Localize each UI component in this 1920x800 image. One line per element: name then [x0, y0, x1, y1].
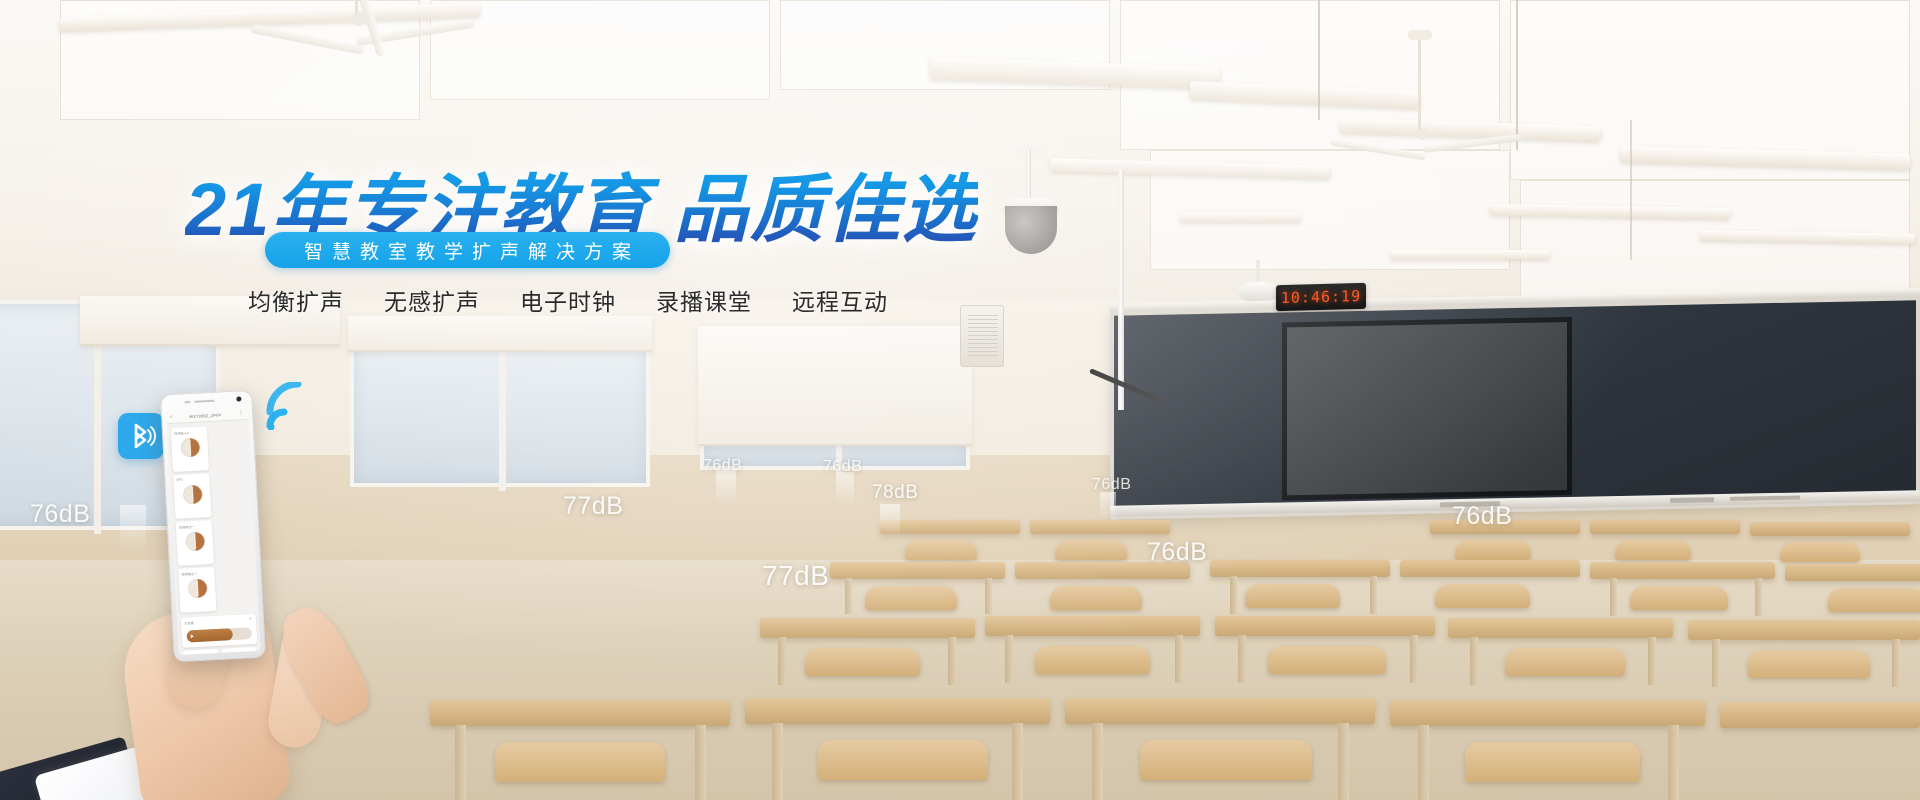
control-card-grid-lower [178, 647, 260, 655]
desk-leg [772, 723, 783, 800]
db-label: 76dB [1452, 502, 1512, 531]
desk [1785, 564, 1920, 581]
desk [1030, 520, 1170, 534]
control-card[interactable]: 视频输出二 [178, 567, 216, 613]
sound-beam [836, 472, 854, 506]
desk-leg [1470, 637, 1478, 685]
chair [1465, 742, 1640, 782]
chair [1268, 646, 1386, 674]
control-card-grid: 视频输入A MP3 视频输出一 视频输出二 [167, 420, 259, 617]
speaker-rod [1026, 150, 1031, 202]
control-card-label: 视频输出二 [181, 570, 211, 577]
chair [1828, 588, 1920, 612]
db-label: 77dB [563, 492, 623, 521]
electronic-clock-display: 10:46:19 [1276, 283, 1366, 311]
clock-time: 10:46:19 [1281, 287, 1361, 307]
board-control-strip [1730, 496, 1800, 501]
desk-leg [1370, 576, 1377, 614]
chair [1505, 648, 1625, 676]
db-label: 76dB [1092, 476, 1131, 494]
front-camera [236, 396, 241, 401]
desk-leg [1892, 639, 1900, 687]
desk [880, 520, 1020, 534]
feature-item: 远程互动 [792, 283, 888, 317]
ceiling-panel [430, 0, 770, 100]
desk-leg [695, 725, 706, 800]
desk [985, 616, 1200, 636]
desk-leg [1410, 635, 1418, 683]
control-card-label: 视频输出一 [179, 523, 209, 530]
chair [1780, 542, 1860, 562]
microphone-pole [1118, 170, 1124, 410]
sound-beam [1100, 492, 1116, 522]
wall-speaker [960, 305, 1004, 367]
feature-item: 无感扩声 [384, 283, 480, 317]
desk-leg [1668, 725, 1679, 800]
feature-item: 均衡扩声 [248, 283, 344, 317]
rotary-knob[interactable] [180, 438, 200, 458]
desk [1750, 522, 1910, 536]
desk-leg [1175, 635, 1183, 683]
chair [1050, 586, 1142, 610]
classroom-promo-banner: 10:46:19 76dB 76dB 77dB 76dB 78dB 76dB 7… [0, 0, 1920, 800]
desk-leg [455, 725, 466, 800]
subtitle-pill: 智慧教室教学扩声解决方案 [265, 232, 670, 268]
chair [1140, 740, 1312, 780]
hanging-wire [1318, 0, 1320, 120]
blackboard-surface [1114, 300, 1916, 507]
db-label: 76dB [1147, 538, 1207, 567]
bluetooth-icon [118, 413, 164, 459]
chair [495, 742, 665, 782]
desk [1590, 520, 1740, 534]
fan-rod [1418, 36, 1421, 130]
window-blind [348, 316, 652, 352]
chair [1245, 584, 1340, 608]
volume-slider-fill [186, 628, 233, 642]
proximity-sensor [184, 401, 190, 403]
rotary-knob[interactable] [183, 485, 203, 505]
desk-leg [1755, 578, 1762, 616]
chair [1055, 540, 1127, 560]
desk-leg [1648, 637, 1656, 685]
sound-beam [716, 470, 736, 506]
desk-leg [1092, 723, 1103, 800]
interactive-whiteboard-screen [1282, 317, 1572, 501]
chair [1615, 540, 1691, 560]
more-vertical-icon[interactable]: ⋮ [238, 410, 244, 416]
chair [818, 740, 988, 780]
chair [1630, 586, 1728, 610]
board-control-strip [1670, 497, 1714, 503]
chair [1435, 584, 1530, 608]
control-card[interactable] [182, 649, 219, 655]
chair [1455, 540, 1531, 560]
fan-rod [355, 0, 358, 14]
desk-leg [778, 637, 786, 685]
desk [430, 700, 730, 726]
desk-leg [1012, 723, 1023, 800]
desk [1720, 702, 1920, 728]
volume-slider-label: 主音量 [184, 617, 253, 626]
desk [1210, 560, 1390, 577]
desk [1215, 616, 1435, 636]
desk [1390, 700, 1705, 726]
desk-leg [845, 578, 852, 614]
ceiling-light-fixture [1390, 250, 1550, 259]
app-title: WX72602_2P04 [189, 412, 221, 419]
chair [1035, 646, 1150, 674]
fan-mount [1408, 30, 1432, 40]
volume-slider-track[interactable] [186, 627, 252, 642]
chevron-left-icon[interactable]: ‹ [170, 414, 172, 420]
earpiece-speaker [194, 400, 214, 403]
chair [805, 648, 920, 676]
hanging-wire [1516, 0, 1518, 150]
chair [1748, 650, 1870, 678]
control-card[interactable]: 视频输出一 [176, 520, 214, 566]
feature-list: 均衡扩声 无感扩声 电子时钟 录播课堂 远程互动 [248, 283, 888, 317]
phone-screen[interactable]: ‹ WX72602_2P04 ⋮ 视频输入A MP3 视频输出一 [166, 407, 261, 655]
desk [1688, 620, 1920, 640]
control-card[interactable] [221, 647, 258, 655]
speaker-rod [1256, 260, 1260, 284]
rotary-knob[interactable] [188, 578, 208, 598]
sound-beam [880, 504, 900, 538]
volume-slider-card[interactable]: 主音量 + [181, 614, 257, 648]
control-card-label: MP3 [176, 476, 206, 482]
desk [745, 698, 1050, 724]
desk-leg [1005, 635, 1013, 683]
rotary-knob[interactable] [185, 531, 205, 551]
db-label: 76dB [703, 457, 742, 475]
desk-leg [948, 637, 956, 685]
plus-icon[interactable]: + [249, 616, 252, 622]
desk-leg [1418, 725, 1429, 800]
control-card-label: 视频输入A [174, 429, 204, 436]
subtitle-pill-label: 智慧教室教学扩声解决方案 [295, 237, 640, 264]
window-blind [698, 326, 972, 446]
desk-leg [1238, 635, 1246, 683]
desk [1400, 560, 1580, 577]
desk-leg [1610, 578, 1617, 616]
desk [1065, 698, 1375, 724]
desk [1448, 618, 1673, 638]
chair [865, 586, 957, 610]
desk-leg [1338, 723, 1349, 800]
chair [905, 540, 977, 560]
pendant-speaker [1238, 282, 1278, 302]
desk [760, 618, 975, 638]
desk-leg [1230, 576, 1237, 614]
hanging-wire [1630, 120, 1632, 260]
feature-item: 电子时钟 [520, 283, 616, 317]
control-card[interactable]: 视频输入A [171, 426, 209, 472]
db-label: 76dB [823, 458, 862, 476]
blackboard [1110, 292, 1920, 520]
smartphone[interactable]: ‹ WX72602_2P04 ⋮ 视频输入A MP3 视频输出一 [160, 390, 266, 662]
ceiling-light-fixture [1180, 212, 1300, 222]
feature-item: 录播课堂 [656, 283, 752, 317]
control-card[interactable]: MP3 [173, 473, 211, 519]
desk [830, 562, 1005, 579]
desk [1590, 562, 1775, 579]
wifi-signal-icon [264, 382, 318, 430]
desk-leg [985, 578, 992, 614]
desk-leg [1712, 639, 1720, 687]
db-label: 78dB [872, 482, 918, 504]
db-label: 77dB [762, 560, 829, 592]
